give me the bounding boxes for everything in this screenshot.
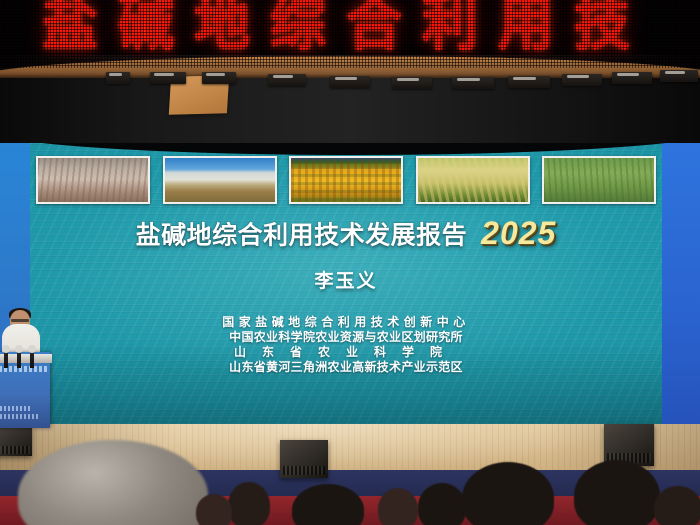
led-screen: 盐碱地综合利用技术发展报告2025 李玉义 国家盐碱地综合利用技术创新中心 中国… bbox=[0, 143, 700, 428]
screen-right-blue-panel bbox=[662, 143, 700, 428]
audience-head-4 bbox=[378, 488, 418, 525]
photo-saline-flat-shoreline bbox=[163, 156, 277, 204]
slide-photo-strip bbox=[36, 156, 656, 204]
stage-monitor-speaker-center bbox=[280, 440, 328, 478]
audience-head-8 bbox=[654, 486, 700, 525]
speaker-glasses bbox=[11, 319, 29, 322]
led-banner: 盐碱地综合利用技 bbox=[0, 0, 700, 68]
organization-line-1: 国家盐碱地综合利用技术创新中心 bbox=[30, 315, 662, 330]
conference-hall-photo: 盐碱地综合利用技 bbox=[0, 0, 700, 525]
slide-title-row: 盐碱地综合利用技术发展报告2025 bbox=[30, 215, 662, 252]
slide-presenter-name: 李玉义 bbox=[30, 266, 662, 293]
audience-head-7 bbox=[574, 460, 660, 525]
microphone-1 bbox=[4, 350, 8, 368]
stage-monitor-speaker-left bbox=[0, 426, 32, 456]
photo-sorghum-field bbox=[416, 156, 530, 204]
photo-green-wheat-field bbox=[542, 156, 656, 204]
organization-line-4: 山东省黄河三角洲农业高新技术产业示范区 bbox=[30, 360, 662, 375]
podium-sign-line-2 bbox=[0, 414, 40, 419]
slide-year: 2025 bbox=[481, 215, 556, 252]
audience-head-9 bbox=[196, 494, 232, 525]
slide-title: 盐碱地综合利用技术发展报告 bbox=[136, 222, 468, 250]
organization-line-2: 中国农业科学院农业资源与农业区划研究所 bbox=[30, 330, 662, 345]
organization-line-3: 山东省农业科学院 bbox=[30, 345, 662, 360]
microphone-3 bbox=[30, 350, 34, 368]
audience-head-6 bbox=[462, 462, 554, 525]
speaker-at-podium bbox=[0, 320, 54, 428]
led-banner-text: 盐碱地综合利用技 bbox=[0, 0, 700, 61]
audience-head-2 bbox=[228, 482, 270, 525]
podium-sign-line-1 bbox=[0, 406, 32, 411]
photo-sunflower-field bbox=[289, 156, 403, 204]
photo-saline-cracked-land bbox=[36, 156, 150, 204]
microphone-2 bbox=[17, 350, 21, 368]
presentation-slide: 盐碱地综合利用技术发展报告2025 李玉义 国家盐碱地综合利用技术创新中心 中国… bbox=[30, 143, 662, 428]
audience-head-5 bbox=[418, 483, 466, 525]
slide-organization-list: 国家盐碱地综合利用技术创新中心 中国农业科学院农业资源与农业区划研究所 山东省农… bbox=[30, 315, 662, 375]
